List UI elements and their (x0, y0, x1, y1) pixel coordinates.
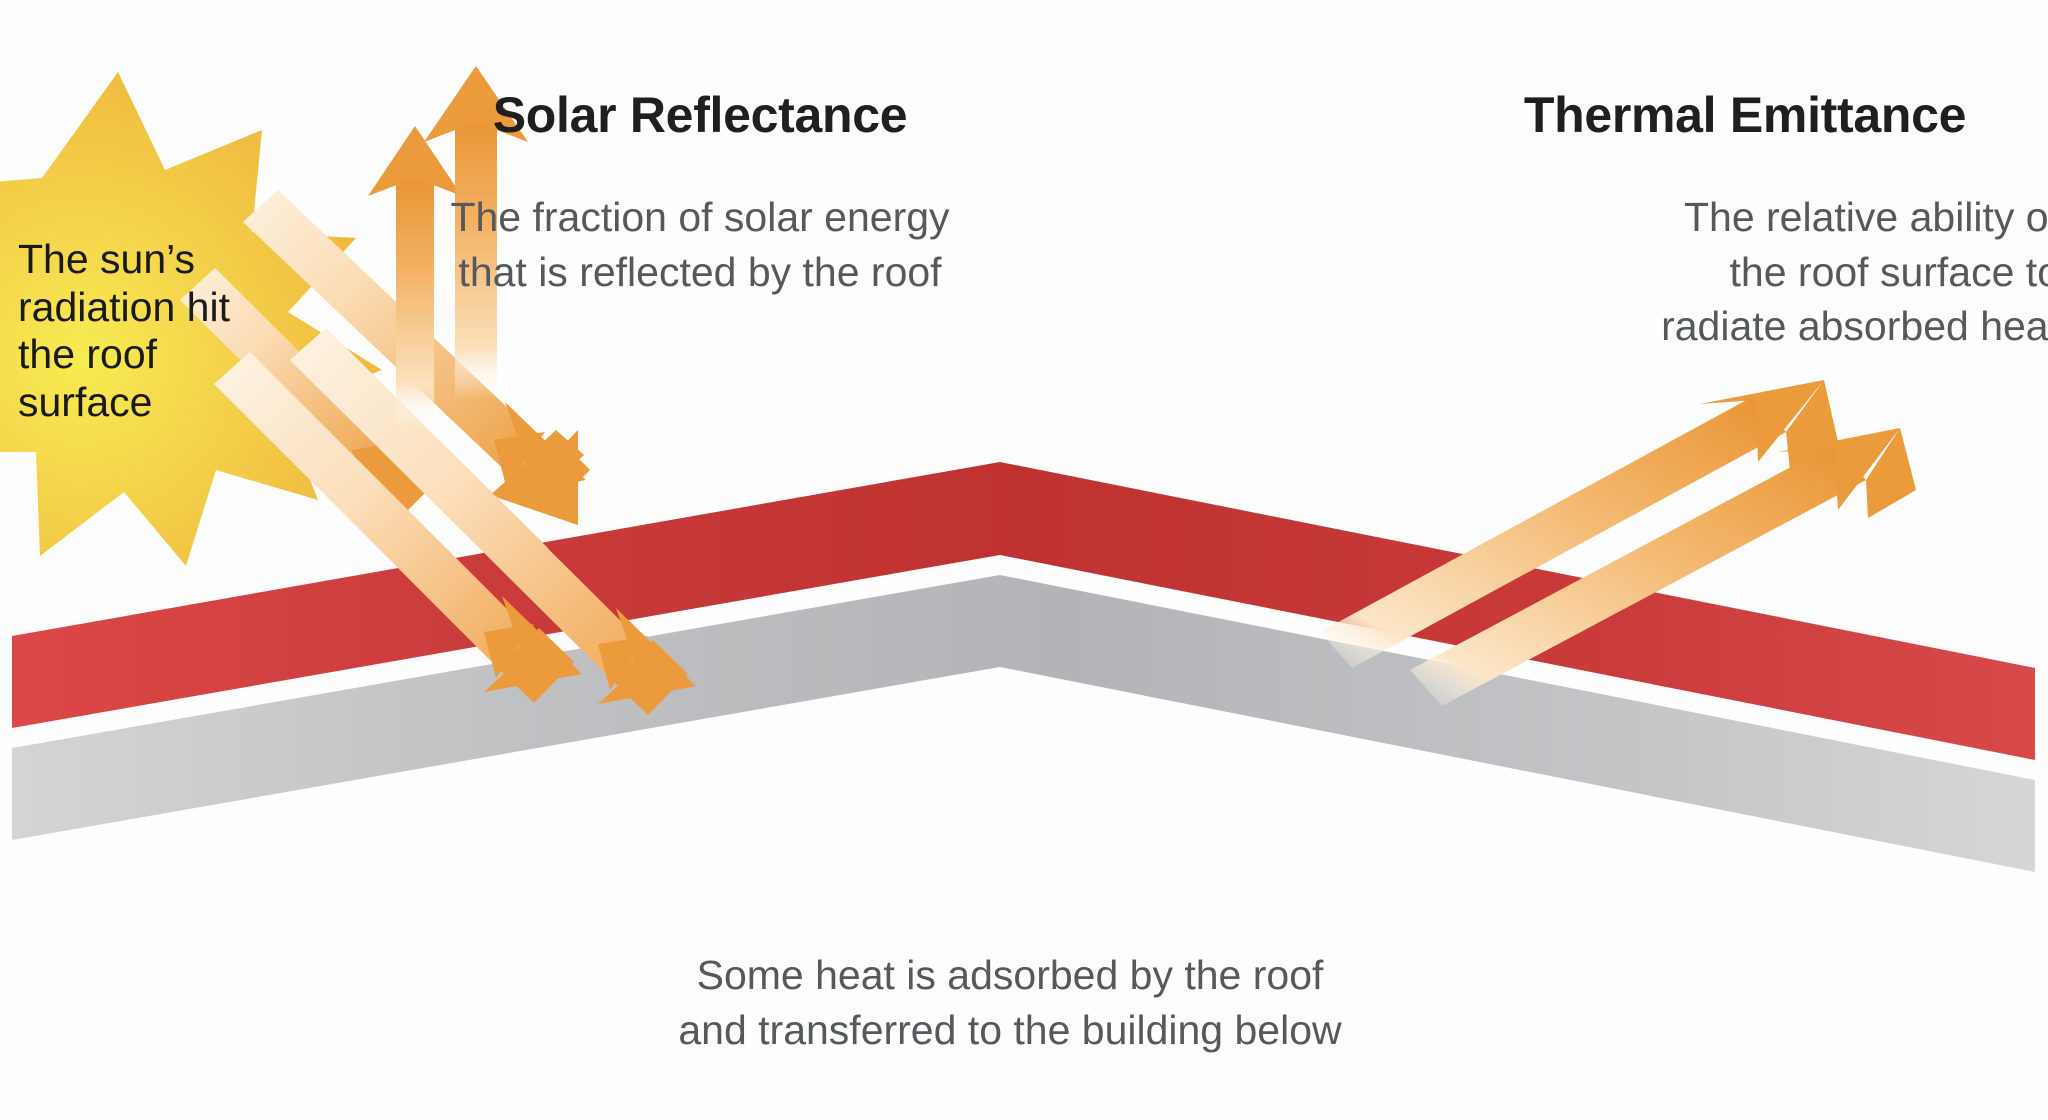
solar-reflectance-heading: Solar Reflectance (493, 86, 908, 144)
infographic-canvas: The sun’s radiation hit the roof surface… (0, 0, 2048, 1120)
thermal-emittance-heading: Thermal Emittance (1524, 86, 1966, 144)
thermal-emittance-body: The relative ability of the roof surface… (1520, 190, 2048, 354)
heat-transfer-caption: Some heat is adsorbed by the roof and tr… (550, 948, 1470, 1057)
sun-caption: The sun’s radiation hit the roof surface (18, 236, 273, 426)
solar-reflectance-body: The fraction of solar energy that is ref… (370, 190, 1030, 299)
